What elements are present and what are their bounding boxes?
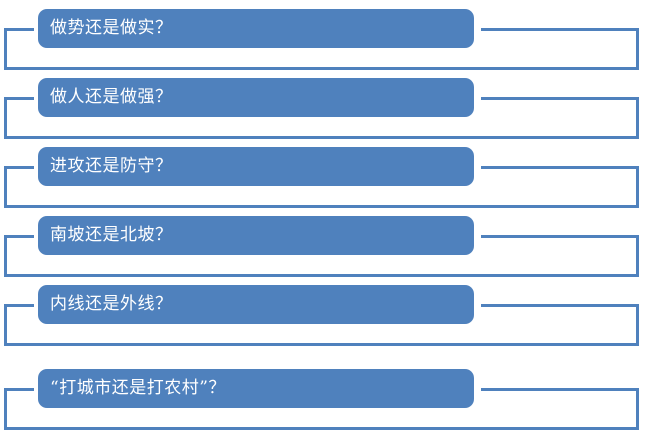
outline-left-edge xyxy=(4,388,7,430)
callout-row[interactable]: “打城市还是打农村”？ xyxy=(0,360,652,422)
outline-right-edge xyxy=(636,166,639,208)
callout-row[interactable]: 做势还是做实？ xyxy=(0,0,652,62)
outline-right-edge xyxy=(636,28,639,70)
outline-top-left-segment xyxy=(4,97,34,100)
callout-pill[interactable]: 进攻还是防守？ xyxy=(38,147,474,186)
outline-right-edge xyxy=(636,304,639,346)
callout-label: 进攻还是防守？ xyxy=(38,158,173,175)
callout-label: 内线还是外线？ xyxy=(38,296,173,313)
callout-row[interactable]: 内线还是外线？ xyxy=(0,276,652,338)
outline-left-edge xyxy=(4,166,7,208)
callout-pill[interactable]: “打城市还是打农村”？ xyxy=(38,369,474,408)
outline-right-edge xyxy=(636,97,639,139)
outline-top-left-segment xyxy=(4,388,34,391)
outline-top-right-segment xyxy=(481,235,639,238)
outline-bottom-edge xyxy=(4,427,639,430)
callout-pill[interactable]: 做人还是做强？ xyxy=(38,78,474,117)
slide-canvas: 做势还是做实？ 做人还是做强？ 进攻还是防守？ 南坡还是北坡？ xyxy=(0,0,652,438)
outline-bottom-edge xyxy=(4,343,639,346)
callout-label: 做势还是做实？ xyxy=(38,20,173,37)
callout-row[interactable]: 做人还是做强？ xyxy=(0,69,652,131)
callout-label: 做人还是做强？ xyxy=(38,89,173,106)
outline-top-right-segment xyxy=(481,28,639,31)
outline-left-edge xyxy=(4,304,7,346)
callout-pill[interactable]: 南坡还是北坡？ xyxy=(38,216,474,255)
outline-top-left-segment xyxy=(4,166,34,169)
outline-right-edge xyxy=(636,235,639,277)
callout-pill[interactable]: 内线还是外线？ xyxy=(38,285,474,324)
outline-top-left-segment xyxy=(4,235,34,238)
outline-left-edge xyxy=(4,28,7,70)
outline-top-right-segment xyxy=(481,388,639,391)
outline-top-left-segment xyxy=(4,304,34,307)
outline-top-left-segment xyxy=(4,28,34,31)
callout-row[interactable]: 南坡还是北坡？ xyxy=(0,207,652,269)
callout-label: “打城市还是打农村”？ xyxy=(38,380,226,397)
outline-top-right-segment xyxy=(481,97,639,100)
outline-left-edge xyxy=(4,97,7,139)
outline-top-right-segment xyxy=(481,304,639,307)
callout-pill[interactable]: 做势还是做实？ xyxy=(38,9,474,48)
outline-top-right-segment xyxy=(481,166,639,169)
callout-row[interactable]: 进攻还是防守？ xyxy=(0,138,652,200)
outline-right-edge xyxy=(636,388,639,430)
outline-left-edge xyxy=(4,235,7,277)
callout-label: 南坡还是北坡？ xyxy=(38,227,173,244)
